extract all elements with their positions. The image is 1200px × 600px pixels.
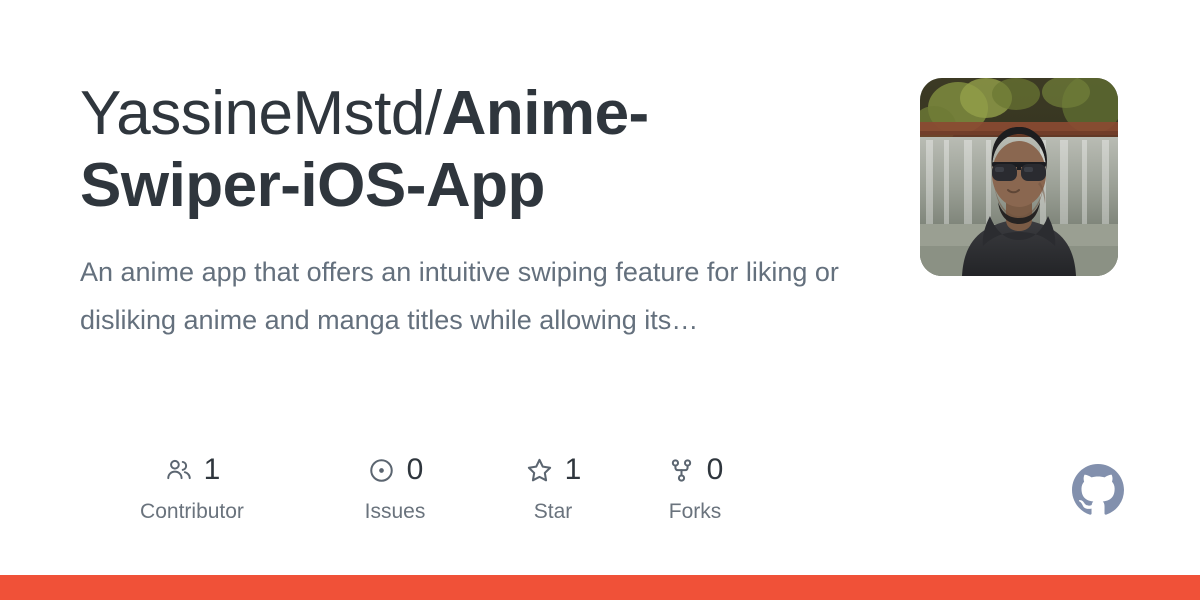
stat-contributor-label: Contributor xyxy=(140,500,244,524)
stat-star-top: 1 xyxy=(525,450,582,490)
repo-stats: 1 Contributor 0 Issues xyxy=(80,450,770,524)
stat-star: 1 Star xyxy=(486,450,620,524)
stat-contributor-top: 1 xyxy=(164,450,221,490)
accent-bar xyxy=(0,575,1200,600)
fork-icon xyxy=(667,455,697,485)
repo-separator: / xyxy=(425,79,442,148)
repo-owner: YassineMstd xyxy=(80,79,425,148)
stat-issues-top: 0 xyxy=(367,450,424,490)
card-content: YassineMstd/Anime-Swiper-iOS-App An anim… xyxy=(80,78,890,344)
stat-issues-label: Issues xyxy=(365,500,426,524)
stat-forks-top: 0 xyxy=(667,450,724,490)
stat-contributor: 1 Contributor xyxy=(80,450,304,524)
repo-social-card: YassineMstd/Anime-Swiper-iOS-App An anim… xyxy=(0,0,1200,600)
stat-forks-label: Forks xyxy=(669,500,722,524)
repo-title: YassineMstd/Anime-Swiper-iOS-App xyxy=(80,78,720,222)
avatar xyxy=(920,78,1118,276)
star-icon xyxy=(525,455,555,485)
issue-icon xyxy=(367,455,397,485)
repo-description: An anime app that offers an intuitive sw… xyxy=(80,248,870,344)
github-octocat-icon xyxy=(1072,464,1124,516)
people-icon xyxy=(164,455,194,485)
stat-star-label: Star xyxy=(534,500,573,524)
stat-star-value: 1 xyxy=(565,455,582,485)
stat-issues-value: 0 xyxy=(407,455,424,485)
stat-forks: 0 Forks xyxy=(620,450,770,524)
stat-contributor-value: 1 xyxy=(204,455,221,485)
stat-issues: 0 Issues xyxy=(304,450,486,524)
stat-forks-value: 0 xyxy=(707,455,724,485)
